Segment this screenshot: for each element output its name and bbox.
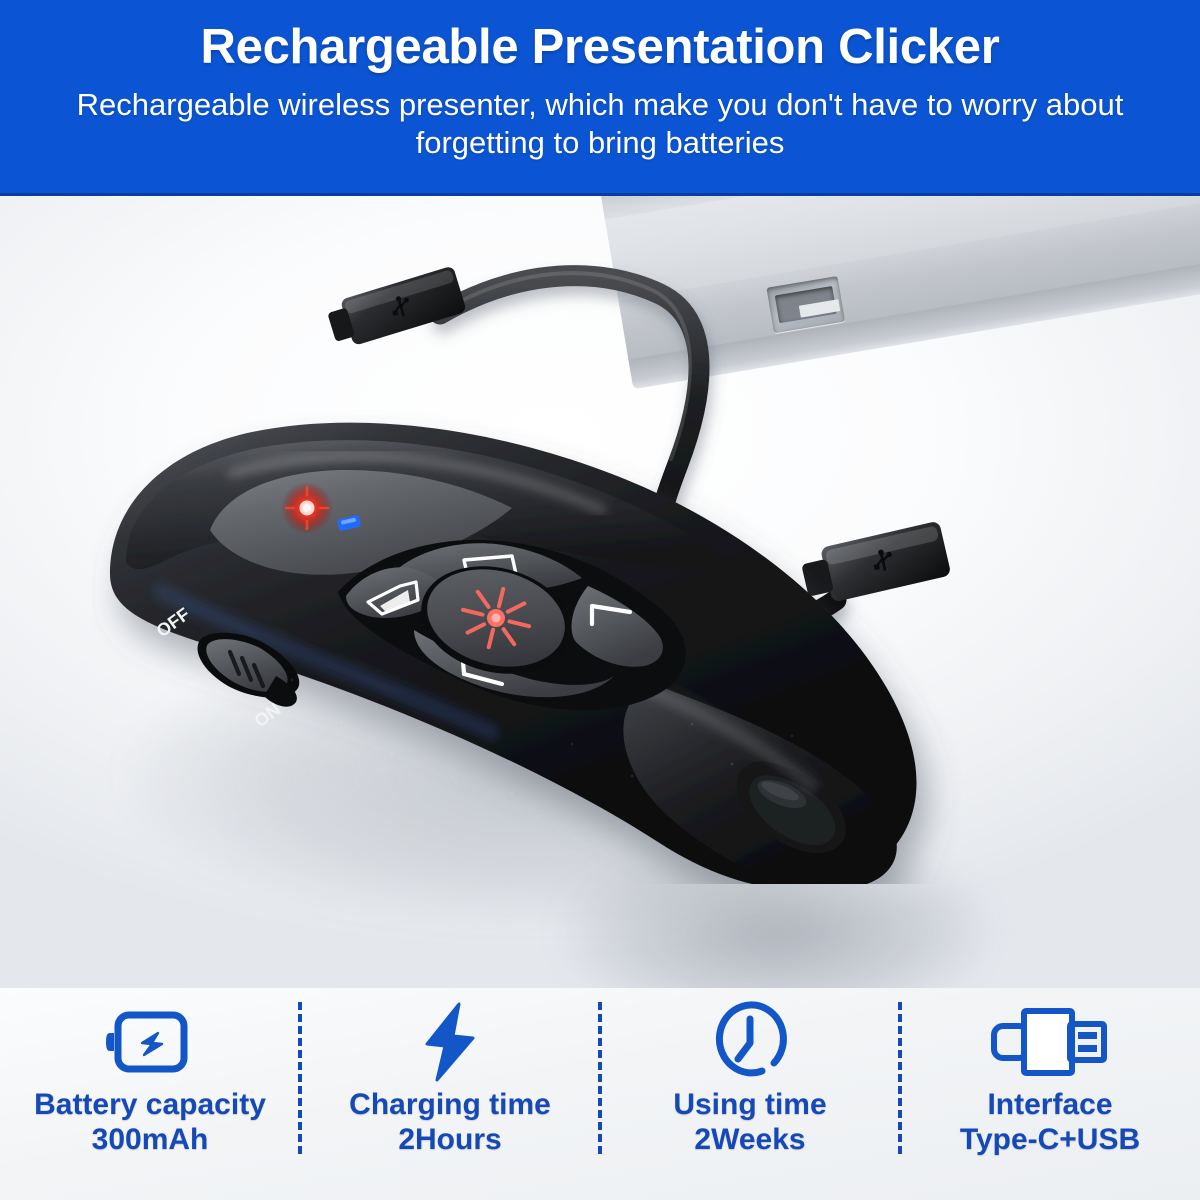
page-title: Rechargeable Presentation Clicker: [0, 22, 1200, 73]
feature-interface: Interface Type-C+USB: [900, 988, 1200, 1200]
feature-label: Using time: [673, 1088, 826, 1123]
feature-label: Charging time: [349, 1088, 551, 1123]
feature-value: 2Hours: [398, 1123, 501, 1158]
page-subtitle: Rechargeable wireless presenter, which m…: [0, 86, 1200, 162]
banner-bottom-edge: [0, 193, 1200, 196]
device-body: OFF ON: [92, 324, 972, 884]
usb-port-cavity: [775, 286, 837, 323]
clock-icon: [708, 1000, 792, 1084]
product-photo: tab caps lo: [0, 196, 1200, 988]
header-banner: Rechargeable Presentation Clicker Rechar…: [0, 0, 1200, 196]
lightning-bolt-icon: [411, 1000, 489, 1084]
feature-value: 2Weeks: [694, 1123, 805, 1158]
feature-using-time: Using time 2Weeks: [600, 988, 900, 1200]
usb-port-tongue: [799, 299, 840, 317]
product-infographic: Rechargeable Presentation Clicker Rechar…: [0, 0, 1200, 1200]
battery-charging-icon: [102, 1000, 198, 1084]
usb-trident-icon: [388, 294, 413, 319]
feature-charging-time: Charging time 2Hours: [300, 988, 600, 1200]
feature-value: Type-C+USB: [960, 1123, 1140, 1158]
usb-type-c-icon: [988, 1000, 1112, 1084]
presentation-clicker-device: OFF ON: [92, 324, 972, 884]
red-led: [281, 482, 333, 534]
feature-bar: Battery capacity 300mAh Charging time 2H…: [0, 988, 1200, 1200]
feature-value: 300mAh: [92, 1123, 209, 1158]
feature-battery-capacity: Battery capacity 300mAh: [0, 988, 300, 1200]
feature-label: Battery capacity: [34, 1088, 266, 1123]
feature-label: Interface: [987, 1088, 1112, 1123]
